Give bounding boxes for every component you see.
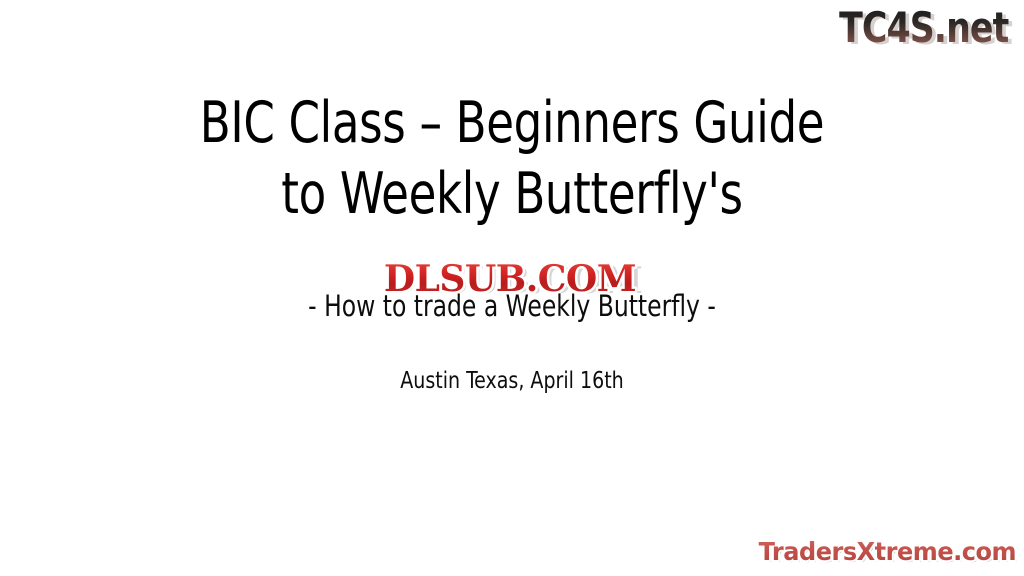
slide-title: BIC Class – Beginners Guide to Weekly Bu… [0,88,1024,230]
tradersxtreme-logo-icon: TradersXtreme.com TradersXtreme.com Trad… [752,534,1020,572]
slide-venue-date: Austin Texas, April 16th [41,367,983,395]
tc4s-logo-icon: TC4S.net TC4S.net [828,2,1020,54]
tc4s-logo[interactable]: TC4S.net TC4S.net [828,2,1020,54]
svg-text:TradersXtreme.com: TradersXtreme.com [759,537,1016,567]
presentation-slide: BIC Class – Beginners Guide to Weekly Bu… [0,0,1024,576]
slide-title-line-1: BIC Class – Beginners Guide [61,88,962,159]
tradersxtreme-logo[interactable]: TradersXtreme.com TradersXtreme.com Trad… [752,534,1020,572]
svg-text:TC4S.net: TC4S.net [839,3,1009,52]
slide-title-line-2: to Weekly Butterfly's [61,159,962,230]
slide-subtitle: - How to trade a Weekly Butterfly - [51,289,973,323]
